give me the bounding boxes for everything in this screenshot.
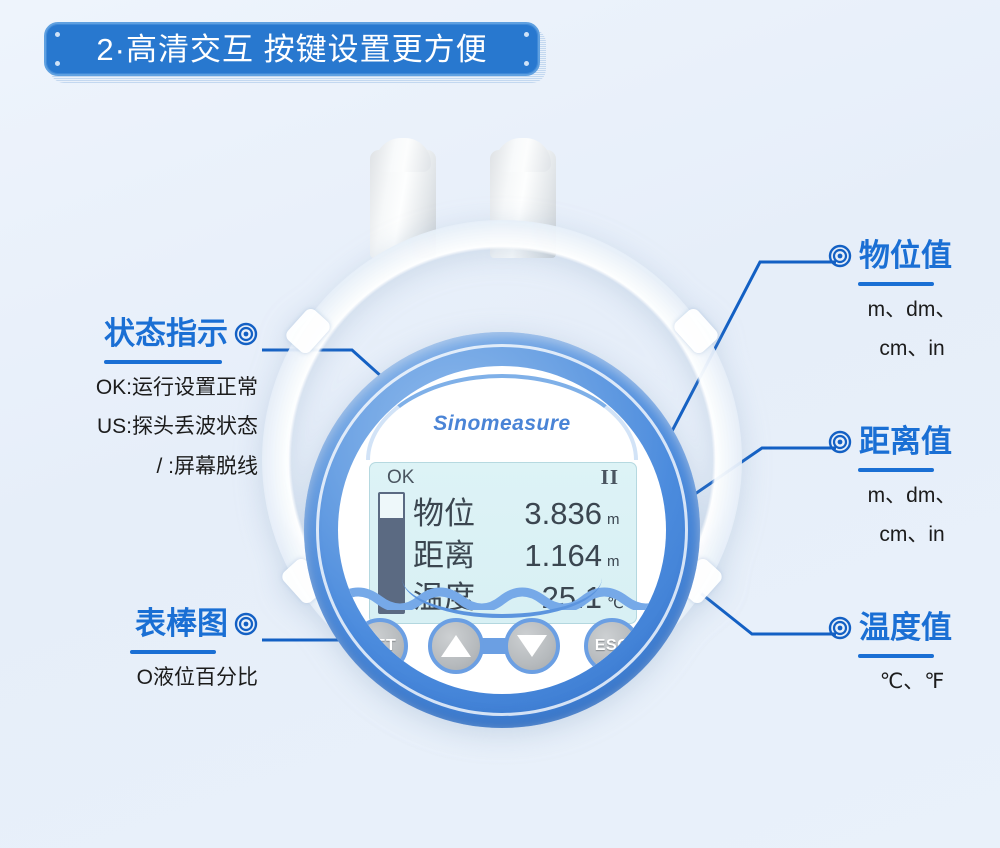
bullseye-icon [828, 616, 852, 640]
callout-bar-head: 表棒图 [10, 608, 258, 641]
level-transmitter-device: Sinomeasure OK II 物位 3.836 m 距离 [262, 150, 742, 810]
device-front-face: Sinomeasure OK II 物位 3.836 m 距离 [338, 366, 666, 694]
callout-status-line-3: / :屏幕脱线 [10, 447, 258, 487]
lcd-row-distance: 距离 1.164 m [413, 530, 633, 572]
callout-bar-title: 表棒图 [135, 608, 228, 641]
callout-temperature-line-1: ℃、℉ [828, 662, 996, 702]
housing-clip [671, 306, 720, 356]
callout-level-rule [858, 282, 934, 286]
lcd-row-unit: m [607, 511, 633, 528]
callout-distance-line-1: m、dm、 [828, 476, 996, 516]
callout-temperature-rule [858, 654, 934, 658]
callout-level-line-2: cm、in [828, 329, 996, 369]
banner-corner-dot [524, 61, 529, 66]
callout-distance-rule [858, 468, 934, 472]
callout-distance-head: 距离值 [828, 426, 996, 459]
callout-status-line-2: US:探头丢波状态 [10, 407, 258, 447]
callout-distance-line-2: cm、in [828, 515, 996, 555]
callout-level-line-1: m、dm、 [828, 290, 996, 330]
up-button[interactable] [428, 618, 484, 674]
banner-title: 2·高清交互 按键设置更方便 [96, 34, 487, 65]
housing-clip [283, 306, 332, 356]
bullseye-icon [234, 612, 258, 636]
callout-distance-title: 距离值 [859, 426, 952, 459]
callout-bar-rule [130, 650, 216, 654]
callout-status-indicator: 状态指示 OK:运行设置正常 US:探头丢波状态 / :屏幕脱线 [10, 318, 258, 487]
lcd-row-unit: m [607, 553, 633, 570]
callout-status-rule [104, 360, 222, 364]
callout-status-head: 状态指示 [10, 318, 258, 351]
lcd-row-label: 距离 [413, 530, 485, 575]
blue-bezel: Sinomeasure OK II 物位 3.836 m 距离 [304, 332, 700, 728]
lcd-row-value: 3.836 [485, 496, 607, 532]
lcd-row-value: 1.164 [485, 538, 607, 574]
callout-status-title: 状态指示 [104, 318, 228, 351]
banner-corner-dot [55, 61, 60, 66]
bullseye-icon [828, 244, 852, 268]
keypad: SET ESC [338, 616, 666, 678]
callout-distance-value: 距离值 m、dm、 cm、in [828, 426, 996, 555]
set-button[interactable]: SET [352, 618, 408, 674]
esc-button[interactable]: ESC [584, 618, 640, 674]
callout-bar-graph: 表棒图 O液位百分比 [10, 608, 258, 697]
lcd-row-level: 物位 3.836 m [413, 488, 633, 530]
callout-status-line-1: OK:运行设置正常 [10, 368, 258, 408]
banner-corner-dot [55, 32, 60, 37]
brand-logo: Sinomeasure [338, 412, 666, 436]
callout-temperature-value: 温度值 ℃、℉ [828, 612, 996, 701]
callout-temperature-title: 温度值 [859, 612, 952, 645]
callout-level-title: 物位值 [859, 240, 952, 273]
banner-plate: 2·高清交互 按键设置更方便 [44, 22, 540, 76]
lcd-status-badge: OK [387, 467, 414, 489]
callout-level-head: 物位值 [828, 240, 996, 273]
lcd-row-label: 物位 [413, 488, 485, 533]
bullseye-icon [234, 322, 258, 346]
arrow-up-icon [441, 635, 471, 657]
callout-temperature-head: 温度值 [828, 612, 996, 645]
transparent-housing: Sinomeasure OK II 物位 3.836 m 距离 [262, 220, 742, 700]
down-button[interactable] [504, 618, 560, 674]
header-banner: 2·高清交互 按键设置更方便 [44, 22, 540, 76]
signal-indicator-icon: II [601, 465, 619, 490]
callout-level-value: 物位值 m、dm、 cm、in [828, 240, 996, 369]
arrow-down-icon [517, 635, 547, 657]
callout-bar-line-1: O液位百分比 [10, 658, 258, 698]
banner-corner-dot [524, 32, 529, 37]
bullseye-icon [828, 430, 852, 454]
